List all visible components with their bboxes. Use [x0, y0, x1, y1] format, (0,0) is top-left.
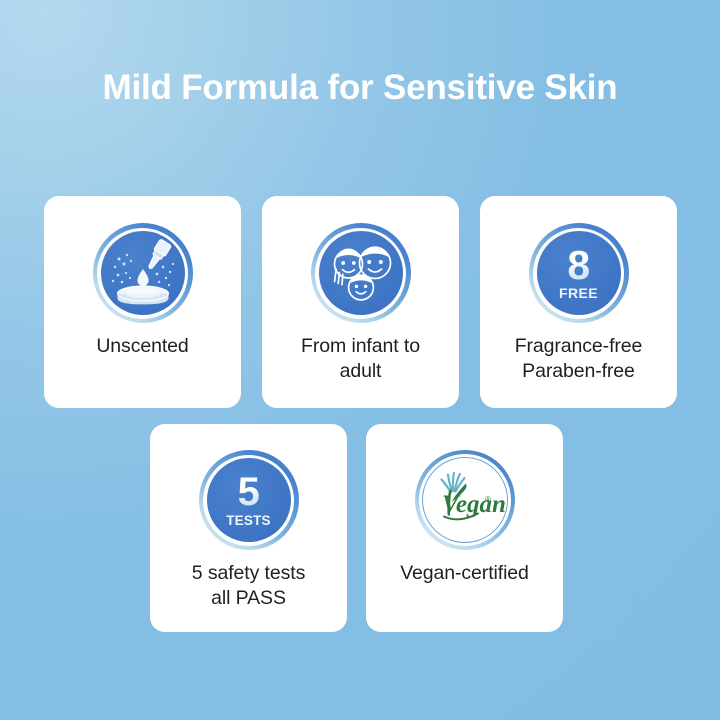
badge-disc — [101, 231, 185, 315]
feature-card-unscented[interactable]: Unscented — [44, 196, 241, 408]
feature-card-label: Unscented — [96, 334, 188, 359]
badge-number: 8 — [567, 246, 589, 284]
label-line-1: Unscented — [96, 334, 188, 359]
feature-card-label: From infant to adult — [301, 334, 420, 384]
feature-card-five-safety-tests[interactable]: 5 TESTS 5 safety tests all PASS — [150, 424, 347, 632]
eight-free-badge-icon: 8 FREE — [529, 223, 629, 323]
badge-number: 5 — [238, 473, 260, 511]
feature-card-vegan-certified[interactable]: Vegan ® Vegan-certified — [366, 424, 563, 632]
label-line-1: 5 safety tests — [192, 561, 306, 586]
five-tests-badge-icon: 5 TESTS — [199, 450, 299, 550]
vegan-logo-glyph: Vegan ® — [423, 458, 507, 542]
label-line-2: all PASS — [192, 586, 306, 611]
badge-disc: 5 TESTS — [207, 458, 291, 542]
badge-subtext: FREE — [559, 286, 598, 301]
feature-card-from-infant-to-adult[interactable]: From infant to adult — [262, 196, 459, 408]
family-faces-icon — [311, 223, 411, 323]
feature-card-fragrance-paraben-free[interactable]: 8 FREE Fragrance-free Paraben-free — [480, 196, 677, 408]
label-line-2: Paraben-free — [515, 359, 643, 384]
dropper-dish-glyph — [101, 231, 185, 315]
badge-disc — [319, 231, 403, 315]
product-feature-graphic: Mild Formula for Sensitive Skin — [0, 0, 720, 720]
vegan-inner-ring: Vegan ® — [422, 457, 508, 543]
label-line-1: Vegan-certified — [400, 561, 529, 586]
label-line-1: From infant to — [301, 334, 420, 359]
feature-card-label: Fragrance-free Paraben-free — [515, 334, 643, 384]
label-line-2: adult — [301, 359, 420, 384]
vegan-wordmark-text: Vegan — [442, 491, 506, 518]
label-line-1: Fragrance-free — [515, 334, 643, 359]
badge-text-group: 5 TESTS — [207, 458, 291, 542]
family-faces-glyph — [319, 231, 403, 315]
badge-subtext: TESTS — [226, 513, 271, 528]
feature-card-label: 5 safety tests all PASS — [192, 561, 306, 611]
feature-card-label: Vegan-certified — [400, 561, 529, 586]
vegan-registered-mark: ® — [485, 495, 491, 504]
vegan-certified-icon: Vegan ® — [415, 450, 515, 550]
badge-disc: 8 FREE — [537, 231, 621, 315]
dropper-dish-icon — [93, 223, 193, 323]
badge-text-group: 8 FREE — [537, 231, 621, 315]
page-title: Mild Formula for Sensitive Skin — [0, 66, 720, 110]
